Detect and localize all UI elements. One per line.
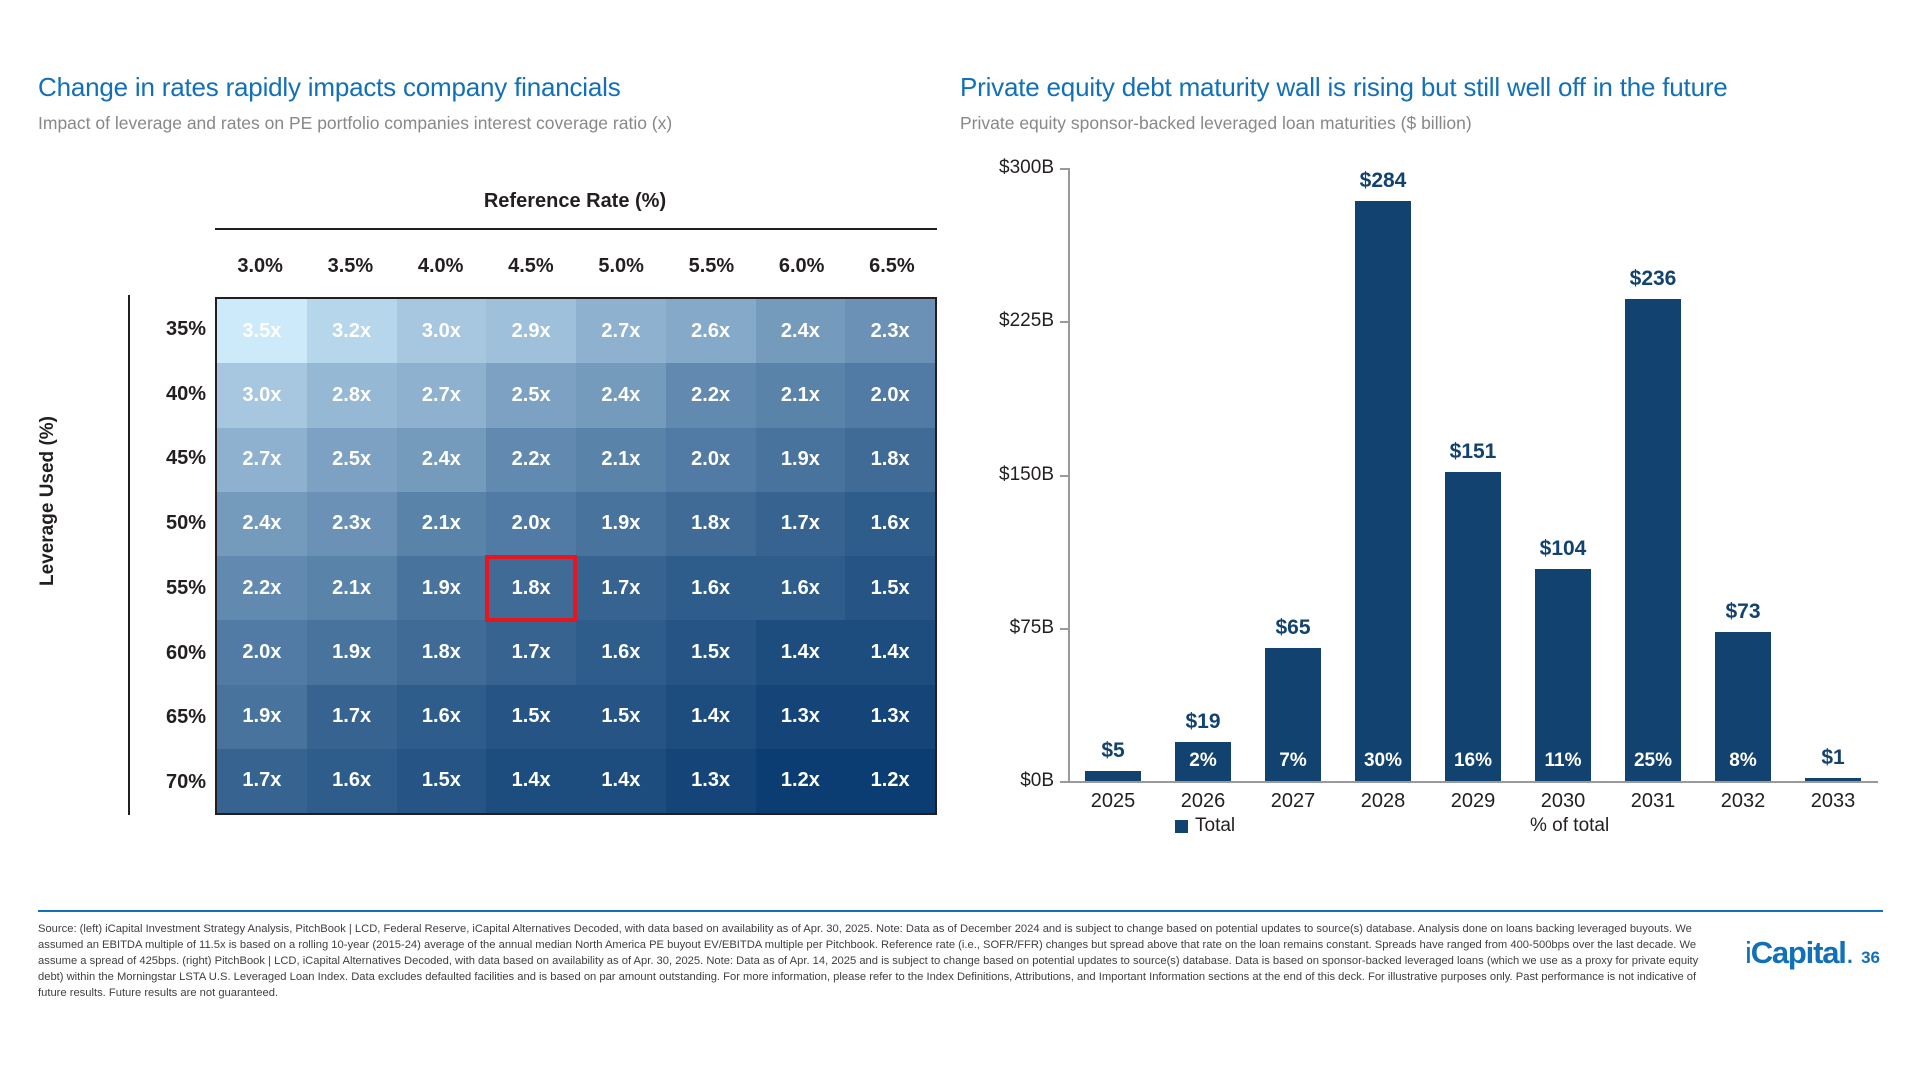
legend-label-total: Total xyxy=(1195,815,1235,837)
bar-slot-2030: 11%$104 xyxy=(1518,168,1608,781)
bar-chart-x-labels: 202520262027202820292030203120322033 xyxy=(1068,790,1878,813)
bar-slot-2031: 25%$236 xyxy=(1608,168,1698,781)
heatmap-cell-r6-c4: 1.5x xyxy=(576,685,666,749)
bar-value-label-2031: $236 xyxy=(1630,267,1677,291)
left-panel: Change in rates rapidly impacts company … xyxy=(0,0,960,900)
heatmap-cell-r7-c4: 1.4x xyxy=(576,749,666,813)
bar-chart-xtick-2031: 2031 xyxy=(1608,790,1698,813)
heatmap-row-label-3: 50% xyxy=(140,491,210,556)
heatmap-row-label-2: 45% xyxy=(140,427,210,492)
heatmap-cell-r4-c1: 2.1x xyxy=(307,556,397,620)
bar-value-label-2032: $73 xyxy=(1725,600,1760,624)
heatmap-y-axis-line xyxy=(128,295,130,815)
icapital-wordmark: iCapital. xyxy=(1745,935,1853,971)
bar-value-label-2033: $1 xyxy=(1821,746,1844,770)
bar-value-label-2028: $284 xyxy=(1360,169,1407,193)
bar-value-label-2025: $5 xyxy=(1101,739,1124,763)
bar-percent-label-2030: 11% xyxy=(1545,750,1582,772)
bar-2033 xyxy=(1805,778,1861,781)
heatmap-cell-r0-c5: 2.6x xyxy=(666,299,756,363)
heatmap-cell-r5-c4: 1.6x xyxy=(576,620,666,684)
heatmap-cell-r3-c5: 1.8x xyxy=(666,492,756,556)
brand-logo: iCapital. 36 xyxy=(1745,935,1880,971)
heatmap-cell-r0-c2: 3.0x xyxy=(397,299,487,363)
bar-chart-ytick-mark-0 xyxy=(1060,781,1068,783)
heatmap-cell-r5-c1: 1.9x xyxy=(307,620,397,684)
bar-chart-xtick-2026: 2026 xyxy=(1158,790,1248,813)
heatmap-cell-r3-c4: 1.9x xyxy=(576,492,666,556)
brand-dot: . xyxy=(1846,935,1853,970)
heatmap-col-header-2: 4.0% xyxy=(396,245,486,287)
bar-chart-ytick-label-3: $225B xyxy=(966,310,1054,332)
heatmap-row-label-0: 35% xyxy=(140,297,210,362)
bar-chart-x-axis xyxy=(1068,781,1878,783)
bar-chart-bars: $52%$197%$6530%$28416%$15111%$10425%$236… xyxy=(1068,168,1878,781)
heatmap-grid: 3.5x3.2x3.0x2.9x2.7x2.6x2.4x2.3x3.0x2.8x… xyxy=(215,297,937,815)
bar-slot-2033: $1 xyxy=(1788,168,1878,781)
bar-value-label-2029: $151 xyxy=(1450,440,1497,464)
heatmap-cell-r1-c4: 2.4x xyxy=(576,363,666,427)
heatmap-cell-r7-c0: 1.7x xyxy=(217,749,307,813)
page-number: 36 xyxy=(1861,948,1880,968)
bar-percent-label-2027: 7% xyxy=(1279,750,1306,772)
bar-chart-xtick-2029: 2029 xyxy=(1428,790,1518,813)
heatmap-cell-r1-c7: 2.0x xyxy=(845,363,935,427)
bar-2030: 11% xyxy=(1535,569,1591,782)
bar-value-label-2026: $19 xyxy=(1185,710,1220,734)
heatmap-cell-r3-c0: 2.4x xyxy=(217,492,307,556)
bar-slot-2027: 7%$65 xyxy=(1248,168,1338,781)
heatmap-row-label-5: 60% xyxy=(140,621,210,686)
heatmap-cell-r2-c4: 2.1x xyxy=(576,428,666,492)
footnote-text: Source: (left) iCapital Investment Strat… xyxy=(38,922,1708,1002)
heatmap-cell-r6-c3: 1.5x xyxy=(486,685,576,749)
heatmap-cell-r4-c4: 1.7x xyxy=(576,556,666,620)
bar-chart-xtick-2028: 2028 xyxy=(1338,790,1428,813)
footer-divider xyxy=(38,910,1883,912)
heatmap-cell-r0-c7: 2.3x xyxy=(845,299,935,363)
heatmap-cell-r2-c2: 2.4x xyxy=(397,428,487,492)
bar-2026: 2% xyxy=(1175,742,1231,781)
bar-chart-ytick-label-1: $75B xyxy=(966,617,1054,639)
heatmap-cell-r3-c7: 1.6x xyxy=(845,492,935,556)
right-panel-title: Private equity debt maturity wall is ris… xyxy=(960,72,1728,103)
bar-slot-2032: 8%$73 xyxy=(1698,168,1788,781)
heatmap-cell-r1-c2: 2.7x xyxy=(397,363,487,427)
heatmap-column-headers: 3.0%3.5%4.0%4.5%5.0%5.5%6.0%6.5% xyxy=(215,245,937,287)
legend-label-percent-of-total: % of total xyxy=(1530,815,1609,837)
bar-chart-xtick-2025: 2025 xyxy=(1068,790,1158,813)
heatmap-cell-r4-c6: 1.6x xyxy=(756,556,846,620)
heatmap-row-labels: 35%40%45%50%55%60%65%70% xyxy=(140,297,210,815)
heatmap-cell-r5-c7: 1.4x xyxy=(845,620,935,684)
bar-2029: 16% xyxy=(1445,472,1501,781)
heatmap-cell-r4-c2: 1.9x xyxy=(397,556,487,620)
heatmap-y-axis-title: Leverage Used (%) xyxy=(37,336,59,666)
heatmap-cell-r2-c1: 2.5x xyxy=(307,428,397,492)
bar-slot-2028: 30%$284 xyxy=(1338,168,1428,781)
heatmap: 35%40%45%50%55%60%65%70% 3.5x3.2x3.0x2.9… xyxy=(215,297,937,815)
bar-percent-label-2032: 8% xyxy=(1729,750,1756,772)
heatmap-cell-r4-c5: 1.6x xyxy=(666,556,756,620)
bar-chart-ytick-label-4: $300B xyxy=(966,157,1054,179)
heatmap-cell-r0-c1: 3.2x xyxy=(307,299,397,363)
heatmap-cell-r0-c6: 2.4x xyxy=(756,299,846,363)
bar-chart-xtick-2033: 2033 xyxy=(1788,790,1878,813)
heatmap-row-label-6: 65% xyxy=(140,686,210,751)
bar-value-label-2030: $104 xyxy=(1540,537,1587,561)
bar-chart-ytick-mark-2 xyxy=(1060,475,1068,477)
slide: Change in rates rapidly impacts company … xyxy=(0,0,1920,1080)
bar-chart-xtick-2032: 2032 xyxy=(1698,790,1788,813)
heatmap-row-label-7: 70% xyxy=(140,750,210,815)
heatmap-cell-r4-c0: 2.2x xyxy=(217,556,307,620)
bar-2025 xyxy=(1085,771,1141,781)
left-panel-title: Change in rates rapidly impacts company … xyxy=(38,72,621,103)
bar-chart: $0B$75B$150B$225B$300B $52%$197%$6530%$2… xyxy=(1068,168,1878,783)
legend-swatch-icon xyxy=(1175,820,1188,833)
heatmap-cell-r5-c5: 1.5x xyxy=(666,620,756,684)
heatmap-cell-r7-c6: 1.2x xyxy=(756,749,846,813)
brand-capital: Capital xyxy=(1751,935,1846,970)
heatmap-cell-r1-c0: 3.0x xyxy=(217,363,307,427)
heatmap-row-label-4: 55% xyxy=(140,556,210,621)
heatmap-col-header-3: 4.5% xyxy=(486,245,576,287)
bar-2031: 25% xyxy=(1625,299,1681,781)
heatmap-cell-r1-c3: 2.5x xyxy=(486,363,576,427)
heatmap-cell-r2-c5: 2.0x xyxy=(666,428,756,492)
heatmap-cell-r7-c2: 1.5x xyxy=(397,749,487,813)
heatmap-cell-r6-c2: 1.6x xyxy=(397,685,487,749)
heatmap-cell-r6-c6: 1.3x xyxy=(756,685,846,749)
heatmap-col-header-1: 3.5% xyxy=(305,245,395,287)
bar-percent-label-2026: 2% xyxy=(1189,750,1216,772)
bar-percent-label-2031: 25% xyxy=(1634,750,1672,772)
heatmap-cell-r0-c3: 2.9x xyxy=(486,299,576,363)
bar-chart-ytick-label-0: $0B xyxy=(966,770,1054,792)
heatmap-cell-r7-c3: 1.4x xyxy=(486,749,576,813)
bar-slot-2025: $5 xyxy=(1068,168,1158,781)
heatmap-col-header-4: 5.0% xyxy=(576,245,666,287)
heatmap-cell-r2-c0: 2.7x xyxy=(217,428,307,492)
heatmap-header-rule xyxy=(215,228,937,230)
heatmap-cell-r4-c7: 1.5x xyxy=(845,556,935,620)
legend-item-total: Total xyxy=(1175,815,1235,837)
bar-chart-ytick-mark-1 xyxy=(1060,628,1068,630)
heatmap-cell-r7-c7: 1.2x xyxy=(845,749,935,813)
bar-value-label-2027: $65 xyxy=(1275,616,1310,640)
left-panel-subtitle: Impact of leverage and rates on PE portf… xyxy=(38,113,672,134)
heatmap-cell-r6-c1: 1.7x xyxy=(307,685,397,749)
bar-chart-ytick-label-2: $150B xyxy=(966,464,1054,486)
bar-2027: 7% xyxy=(1265,648,1321,781)
heatmap-cell-r5-c6: 1.4x xyxy=(756,620,846,684)
right-panel: Private equity debt maturity wall is ris… xyxy=(960,0,1920,900)
heatmap-cell-r0-c0: 3.5x xyxy=(217,299,307,363)
heatmap-cell-r7-c1: 1.6x xyxy=(307,749,397,813)
bar-chart-xtick-2030: 2030 xyxy=(1518,790,1608,813)
bar-chart-ytick-mark-4 xyxy=(1060,168,1068,170)
heatmap-cell-r2-c3: 2.2x xyxy=(486,428,576,492)
heatmap-cell-r5-c3: 1.7x xyxy=(486,620,576,684)
bar-percent-label-2029: 16% xyxy=(1454,750,1492,772)
heatmap-cell-r5-c0: 2.0x xyxy=(217,620,307,684)
heatmap-cell-r6-c5: 1.4x xyxy=(666,685,756,749)
bar-slot-2026: 2%$19 xyxy=(1158,168,1248,781)
bar-2032: 8% xyxy=(1715,632,1771,781)
bar-2028: 30% xyxy=(1355,201,1411,781)
heatmap-cell-r1-c6: 2.1x xyxy=(756,363,846,427)
heatmap-cell-r2-c7: 1.8x xyxy=(845,428,935,492)
heatmap-row-label-1: 40% xyxy=(140,362,210,427)
bar-chart-ytick-mark-3 xyxy=(1060,321,1068,323)
bar-percent-label-2028: 30% xyxy=(1364,750,1402,772)
bar-slot-2029: 16%$151 xyxy=(1428,168,1518,781)
heatmap-col-header-6: 6.0% xyxy=(757,245,847,287)
heatmap-col-header-5: 5.5% xyxy=(666,245,756,287)
heatmap-cell-r1-c1: 2.8x xyxy=(307,363,397,427)
heatmap-cell-r7-c5: 1.3x xyxy=(666,749,756,813)
heatmap-cell-r3-c2: 2.1x xyxy=(397,492,487,556)
heatmap-cell-r1-c5: 2.2x xyxy=(666,363,756,427)
heatmap-cell-r3-c3: 2.0x xyxy=(486,492,576,556)
bar-chart-legend: Total % of total xyxy=(1175,815,1875,845)
heatmap-x-axis-title: Reference Rate (%) xyxy=(215,190,935,213)
heatmap-cell-r6-c7: 1.3x xyxy=(845,685,935,749)
heatmap-cell-r0-c4: 2.7x xyxy=(576,299,666,363)
bar-chart-xtick-2027: 2027 xyxy=(1248,790,1338,813)
heatmap-cell-r2-c6: 1.9x xyxy=(756,428,846,492)
heatmap-cell-r6-c0: 1.9x xyxy=(217,685,307,749)
heatmap-col-header-7: 6.5% xyxy=(847,245,937,287)
heatmap-cell-r3-c6: 1.7x xyxy=(756,492,846,556)
heatmap-cell-r5-c2: 1.8x xyxy=(397,620,487,684)
right-panel-subtitle: Private equity sponsor-backed leveraged … xyxy=(960,113,1472,134)
heatmap-cell-r3-c1: 2.3x xyxy=(307,492,397,556)
heatmap-cell-r4-c3: 1.8x xyxy=(486,556,576,620)
heatmap-col-header-0: 3.0% xyxy=(215,245,305,287)
